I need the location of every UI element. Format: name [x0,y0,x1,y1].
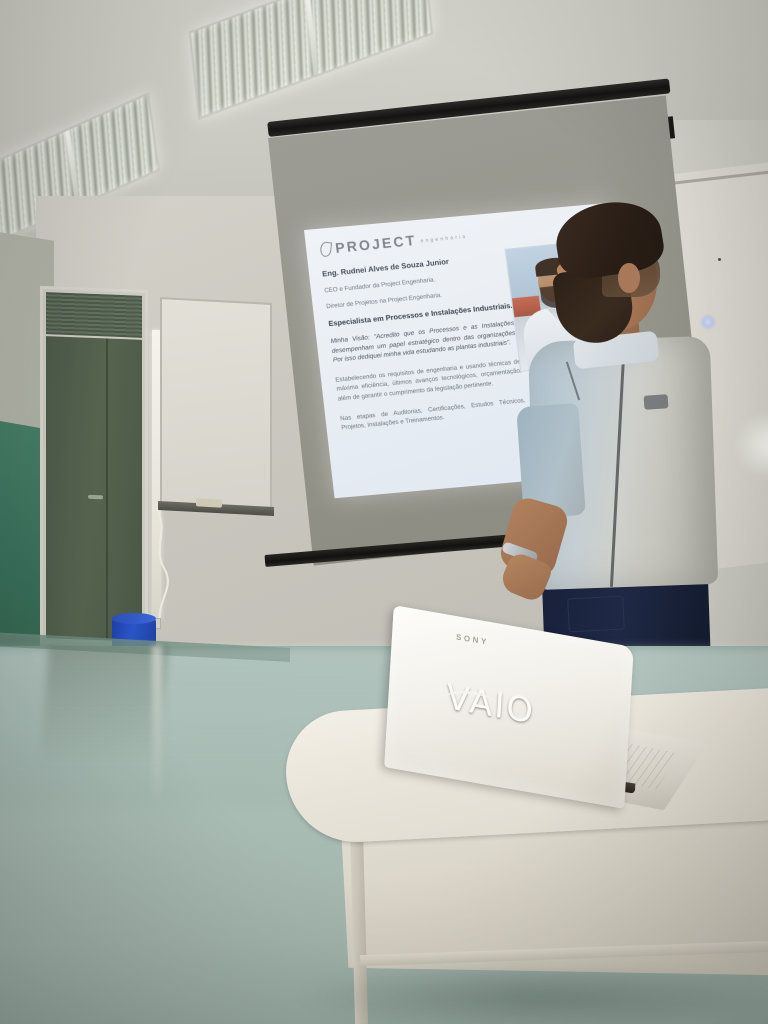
whiteboard-left [160,297,272,515]
photo-scene: PROJECT engenharia Eng. Rudnei Alves de … [0,0,768,1024]
door-leaf-split [106,338,108,640]
logo-wordmark: PROJECT [334,232,417,256]
door-floor-reflection [40,646,168,766]
slide-quote: Minha Visão: "Acredito que os Processos … [330,319,519,366]
whiteboard-eraser[interactable] [196,498,222,507]
presenter-ear [618,263,640,293]
presenter-shoulder-patch [644,394,669,410]
green-door[interactable] [40,286,148,648]
desk-shadow [300,962,768,1024]
presenter-back-pocket [567,596,625,633]
sony-brand-text: SONY [456,633,489,647]
door-transom-louver [46,292,142,338]
door-leaf [46,336,142,642]
light-strip-floor-reflection [152,646,162,806]
logo-leaf-icon [320,241,332,257]
door-handle[interactable] [88,495,103,500]
hanging-cable [150,508,196,626]
slide-paragraph: Estabelecendo os requisitos de engenhari… [335,357,524,404]
vaio-logo: VAIO [445,677,536,732]
project-engenharia-logo: PROJECT engenharia [319,227,468,258]
logo-subtitle: engenharia [420,234,468,245]
